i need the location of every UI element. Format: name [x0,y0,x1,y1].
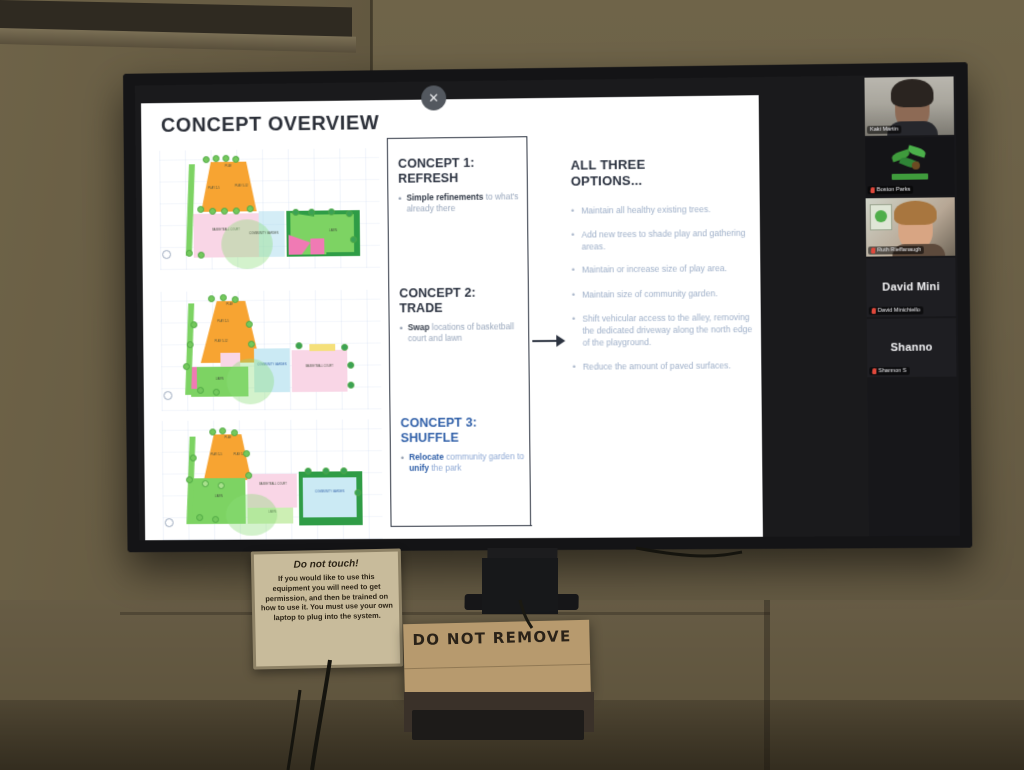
all-three-options-column: ALL THREE OPTIONS... •Maintain all healt… [571,155,754,384]
option-text: Maintain or increase size of play area. [582,263,727,278]
cardboard-text: DO NOT REMOVE [412,627,571,649]
concept-1-bold: Simple refinements [406,191,483,202]
tree-icon [322,467,329,474]
list-item: •Maintain or increase size of play area. [572,262,753,277]
wall-panel-line [120,612,770,615]
concept-1-text: Simple refinements to what's already the… [406,191,523,216]
tree-icon [347,362,354,369]
participant-name-text: David Minichiello [878,307,921,313]
tree-icon [213,389,220,396]
tree-icon [221,208,228,215]
concept-2-bold: Swap [408,322,430,332]
tree-icon [341,344,348,351]
plan3-lawn-label: LAWN [204,496,234,499]
participant-tile-kaki-martin[interactable]: Kaki Martin [864,76,954,136]
site-plan-concept-1: PLAY PLAY 2-5 PLAY 5-12 BASKETBALL COURT… [159,148,380,270]
all-three-heading-line1: ALL THREE [571,157,646,173]
concept-1-heading: CONCEPT 1: REFRESH [398,155,523,187]
option-text: Shift vehicular access to the alley, rem… [582,311,753,350]
leaf-icon [891,145,928,172]
tree-icon [350,236,357,243]
page-title: CONCEPT OVERVIEW [161,112,379,138]
monitor-screen: CONCEPT OVERVIEW PLAY PLAY 2-5 PLAY 5-12… [135,74,960,540]
do-not-touch-sign: Do not touch! If you would like to use t… [251,548,403,669]
concept-2-heading-line2: TRADE [399,301,442,315]
plan3-canopy-blob [226,494,278,536]
list-item: •Add new trees to shade play and gatheri… [571,226,752,253]
arrow-right-icon [532,334,570,348]
close-icon[interactable]: ✕ [421,85,446,110]
concept-2-text: Swap locations of basketball court and l… [408,321,525,346]
hair-shape [894,201,937,226]
plan1-lawn-label: LAWN [320,230,346,233]
tree-icon [245,472,252,479]
list-item: •Maintain all healthy existing trees. [571,202,752,217]
bullet-dot-icon: • [400,322,403,346]
bullet-dot-icon: • [571,204,574,217]
plan2-court-label: BASKETBALL COURT [300,366,340,369]
bullet-dot-icon: • [398,192,401,216]
north-arrow-icon [165,518,174,527]
tree-icon [233,207,240,214]
participant-tile-boston-parks[interactable]: Boston Parks [865,137,955,196]
plan1-pink-patch-b [310,238,324,254]
concept-3-heading-line2: SHUFFLE [401,431,459,445]
plan3-play-label: PLAY [213,437,243,440]
participant-tile-shannon-s[interactable]: Shanno Shannon S [867,318,957,377]
participant-tile-ruth-rieffanaugh[interactable]: Ruth Rieffanaugh [866,197,956,256]
tree-icon [198,252,205,259]
tree-icon [187,341,194,348]
tree-icon [340,467,347,474]
zoom-meeting-window: CONCEPT OVERVIEW PLAY PLAY 2-5 PLAY 5-12… [135,74,960,540]
tree-icon [328,208,335,215]
tree-icon [247,205,254,212]
option-text: Maintain all healthy existing trees. [581,203,711,218]
participant-name-text: Ruth Rieffanaugh [877,247,921,254]
cardboard-fold [404,664,590,670]
mic-muted-icon [872,308,876,314]
bullet-dot-icon: • [572,288,575,301]
tree-icon [347,382,354,389]
participant-name-text: Shannon S [878,368,906,374]
tree-icon [305,468,312,475]
concept-3-emph: unify [409,463,429,473]
tree-icon [196,514,203,521]
plan2-play-label: PLAY [212,304,248,307]
do-not-remove-cardboard-sign: DO NOT REMOVE [403,620,591,697]
concept-3-rest-a: community garden to [444,451,524,462]
av-tray [412,710,584,740]
bullet-dot-icon: • [572,312,576,349]
participant-name: Shannon S [869,367,909,375]
mic-muted-icon [871,247,875,253]
north-arrow-icon [162,250,171,259]
tree-icon [222,155,229,162]
participant-tile-david-minichiello[interactable]: David Mini David Minichiello [866,258,956,317]
plan3-community-garden [303,477,357,517]
tree-icon [246,321,253,328]
plan2-entry-strip [309,344,335,351]
hair-shape [891,79,934,108]
bullet-dot-icon: • [401,452,404,476]
logo-bar [892,173,929,179]
plan2-canopy-blob [226,358,274,404]
list-item: •Shift vehicular access to the alley, re… [572,311,753,350]
tree-icon [354,489,361,496]
participant-name: David Minichiello [869,306,924,315]
plan2-play25-label: PLAY 2-5 [210,321,236,324]
site-plan-concept-3: PLAY PLAY 2-5 PLAY 5-12 LAWN BASKETBALL … [162,419,383,540]
concept-3-text: Relocate community garden to unify the p… [409,451,526,476]
tree-icon [183,363,190,370]
concept-3-rest-b: the park [429,463,462,473]
all-three-heading: ALL THREE OPTIONS... [571,155,752,190]
concept-2-heading-line1: CONCEPT 2: [399,286,476,301]
tree-icon [202,480,209,487]
tree-icon [231,429,238,436]
tree-icon [308,209,315,216]
tree-icon [190,454,197,461]
tree-icon [232,296,239,303]
concept-3-heading: CONCEPT 3: SHUFFLE [400,415,525,446]
concept-3-block: CONCEPT 3: SHUFFLE • Relocate community … [400,415,525,475]
participant-name-text: Kaki Martin [870,126,898,132]
concepts-column: CONCEPT 1: REFRESH • Simple refinements … [387,136,531,527]
concept-1-block: CONCEPT 1: REFRESH • Simple refinements … [398,155,523,216]
concept-1-bullet: • Simple refinements to what's already t… [398,191,523,216]
list-item: •Reduce the amount of paved surfaces. [572,359,753,374]
concept-2-block: CONCEPT 2: TRADE • Swap locations of bas… [399,285,524,345]
site-plan-concept-2: PLAY PLAY 2-5 PLAY 5-12 LAWN COMMUNITY G… [161,290,382,411]
bullet-dot-icon: • [572,361,575,374]
participant-name: Boston Parks [868,186,914,195]
tree-icon [209,428,216,435]
sign-body: If you would like to use this equipment … [259,572,394,624]
tree-icon [208,295,215,302]
plan1-play512-label: PLAY 5-12 [231,185,253,188]
list-item: •Maintain size of community garden. [572,286,753,301]
tree-icon [219,427,226,434]
option-text: Reduce the amount of paved surfaces. [583,359,731,373]
option-text: Maintain size of community garden. [582,287,718,301]
concept-2-heading: CONCEPT 2: TRADE [399,285,524,317]
tree-icon [248,341,255,348]
tree-icon [220,294,227,301]
participant-name: Ruth Rieffanaugh [868,246,924,255]
participant-strip: Kaki Martin B [864,74,960,536]
option-text: Add new trees to shade play and gatherin… [581,226,752,253]
participant-name-text: Boston Parks [877,187,911,193]
north-arrow-icon [163,391,172,400]
bullet-dot-icon: • [571,228,574,253]
plan3-garden-label: COMMUNITY GARDEN [311,491,349,494]
wall-mounted-monitor: CONCEPT OVERVIEW PLAY PLAY 2-5 PLAY 5-12… [123,62,972,552]
bullet-dot-icon: • [572,264,575,277]
shared-screen-area: CONCEPT OVERVIEW PLAY PLAY 2-5 PLAY 5-12… [135,76,869,541]
mic-muted-icon [872,368,876,374]
tree-icon [212,516,219,523]
tree-icon [197,387,204,394]
plan1-garden-label: COMMUNITY GARDEN [247,233,281,236]
plan2-basketball-court [292,350,348,392]
tree-icon [346,210,353,217]
tree-icon [218,482,225,489]
tree-icon [232,156,239,163]
plan1-play-label: PLAY [211,166,247,169]
av-equipment-mount [482,558,558,614]
concept-3-heading-line1: CONCEPT 3: [400,416,477,431]
presentation-slide: CONCEPT OVERVIEW PLAY PLAY 2-5 PLAY 5-12… [141,95,763,540]
tree-icon [292,209,299,216]
participant-name: Kaki Martin [867,125,901,133]
tree-icon [243,450,250,457]
tree-icon [203,156,210,163]
all-three-heading-line2: OPTIONS... [571,173,643,189]
mic-muted-icon [871,187,875,193]
sign-heading: Do not touch! [259,558,393,572]
tree-icon [197,206,204,213]
tree-icon [190,321,197,328]
concept-3-bullet: • Relocate community garden to unify the… [401,451,526,476]
concept-1-heading-line2: REFRESH [398,171,458,186]
plan3-play25-label: PLAY 2-5 [206,454,228,457]
plan1-canopy-blob [221,219,273,269]
tree-icon [186,250,193,257]
concept-1-heading-line1: CONCEPT 1: [398,156,475,171]
concept-2-bullet: • Swap locations of basketball court and… [400,321,525,346]
plan2-play512-label: PLAY 5-12 [208,341,234,344]
tree-icon [209,208,216,215]
plan1-play25-label: PLAY 2-5 [203,188,225,191]
tree-icon [295,342,302,349]
tree-icon [213,155,220,162]
concept-3-bold: Relocate [409,451,444,461]
plan3-court-label: BASKETBALL COURT [255,484,291,487]
tree-icon [186,476,193,483]
